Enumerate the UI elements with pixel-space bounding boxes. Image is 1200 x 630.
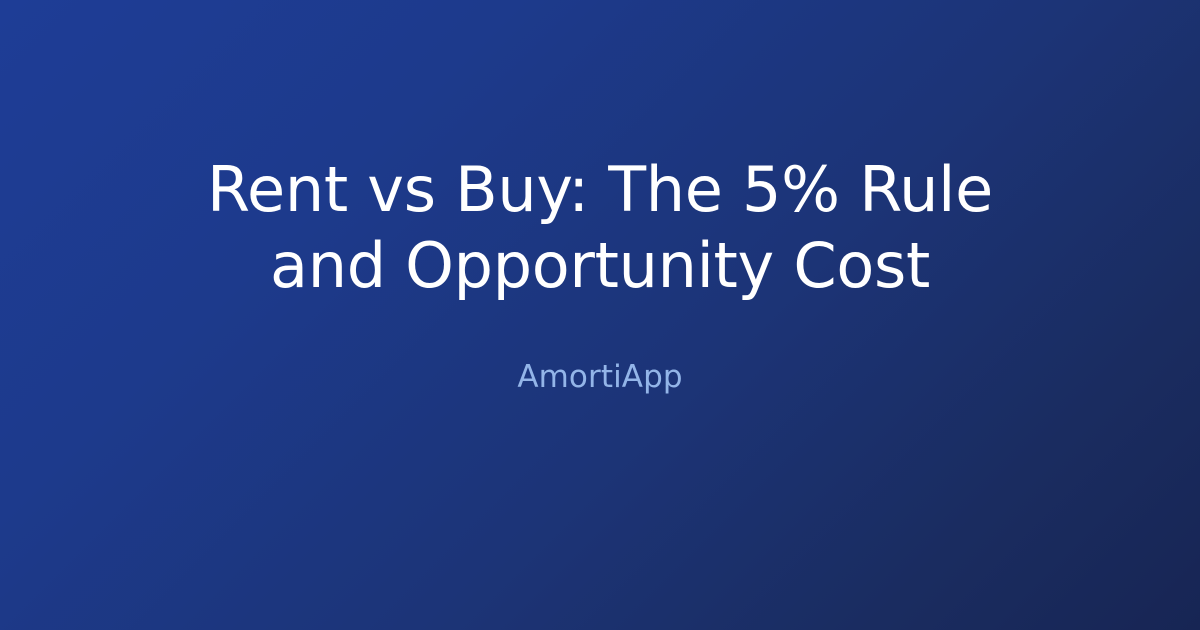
page-title: Rent vs Buy: The 5% Rule and Opportunity… — [160, 152, 1040, 303]
card-content: Rent vs Buy: The 5% Rule and Opportunity… — [100, 152, 1100, 398]
og-share-card: Rent vs Buy: The 5% Rule and Opportunity… — [0, 0, 1200, 630]
brand-name: AmortiApp — [517, 357, 682, 397]
